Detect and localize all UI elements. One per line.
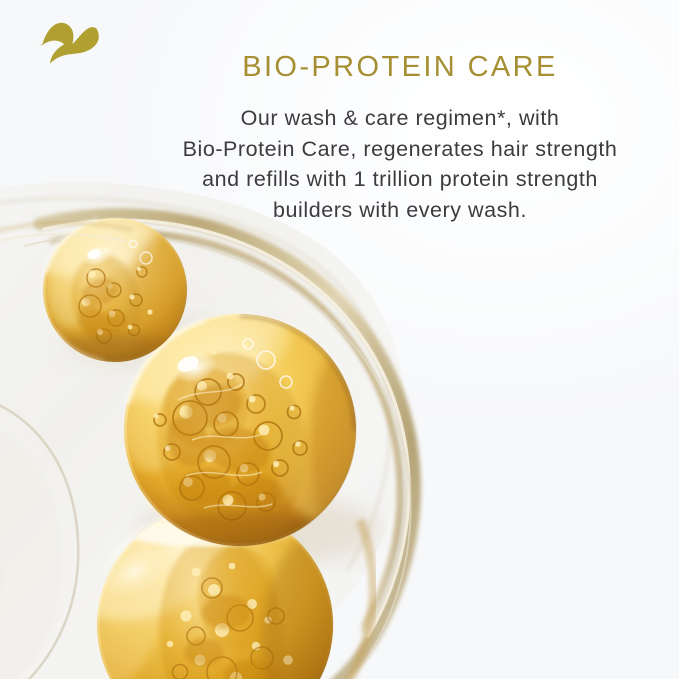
- body-copy-line: and refills with 1 trillion protein stre…: [110, 164, 679, 195]
- page-title: BIO-PROTEIN CARE: [110, 52, 679, 84]
- dove-bird-icon: [32, 16, 102, 68]
- body-copy-line: Our wash & care regimen*, with: [110, 103, 679, 134]
- body-copy-line: Bio-Protein Care, regenerates hair stren…: [110, 134, 679, 165]
- creative-banner: BIO-PROTEIN CARE Our wash & care regimen…: [0, 0, 679, 679]
- body-copy-line: builders with every wash.: [110, 195, 679, 226]
- copy-block: BIO-PROTEIN CARE Our wash & care regimen…: [110, 52, 679, 226]
- body-copy: Our wash & care regimen*, with Bio-Prote…: [110, 103, 679, 226]
